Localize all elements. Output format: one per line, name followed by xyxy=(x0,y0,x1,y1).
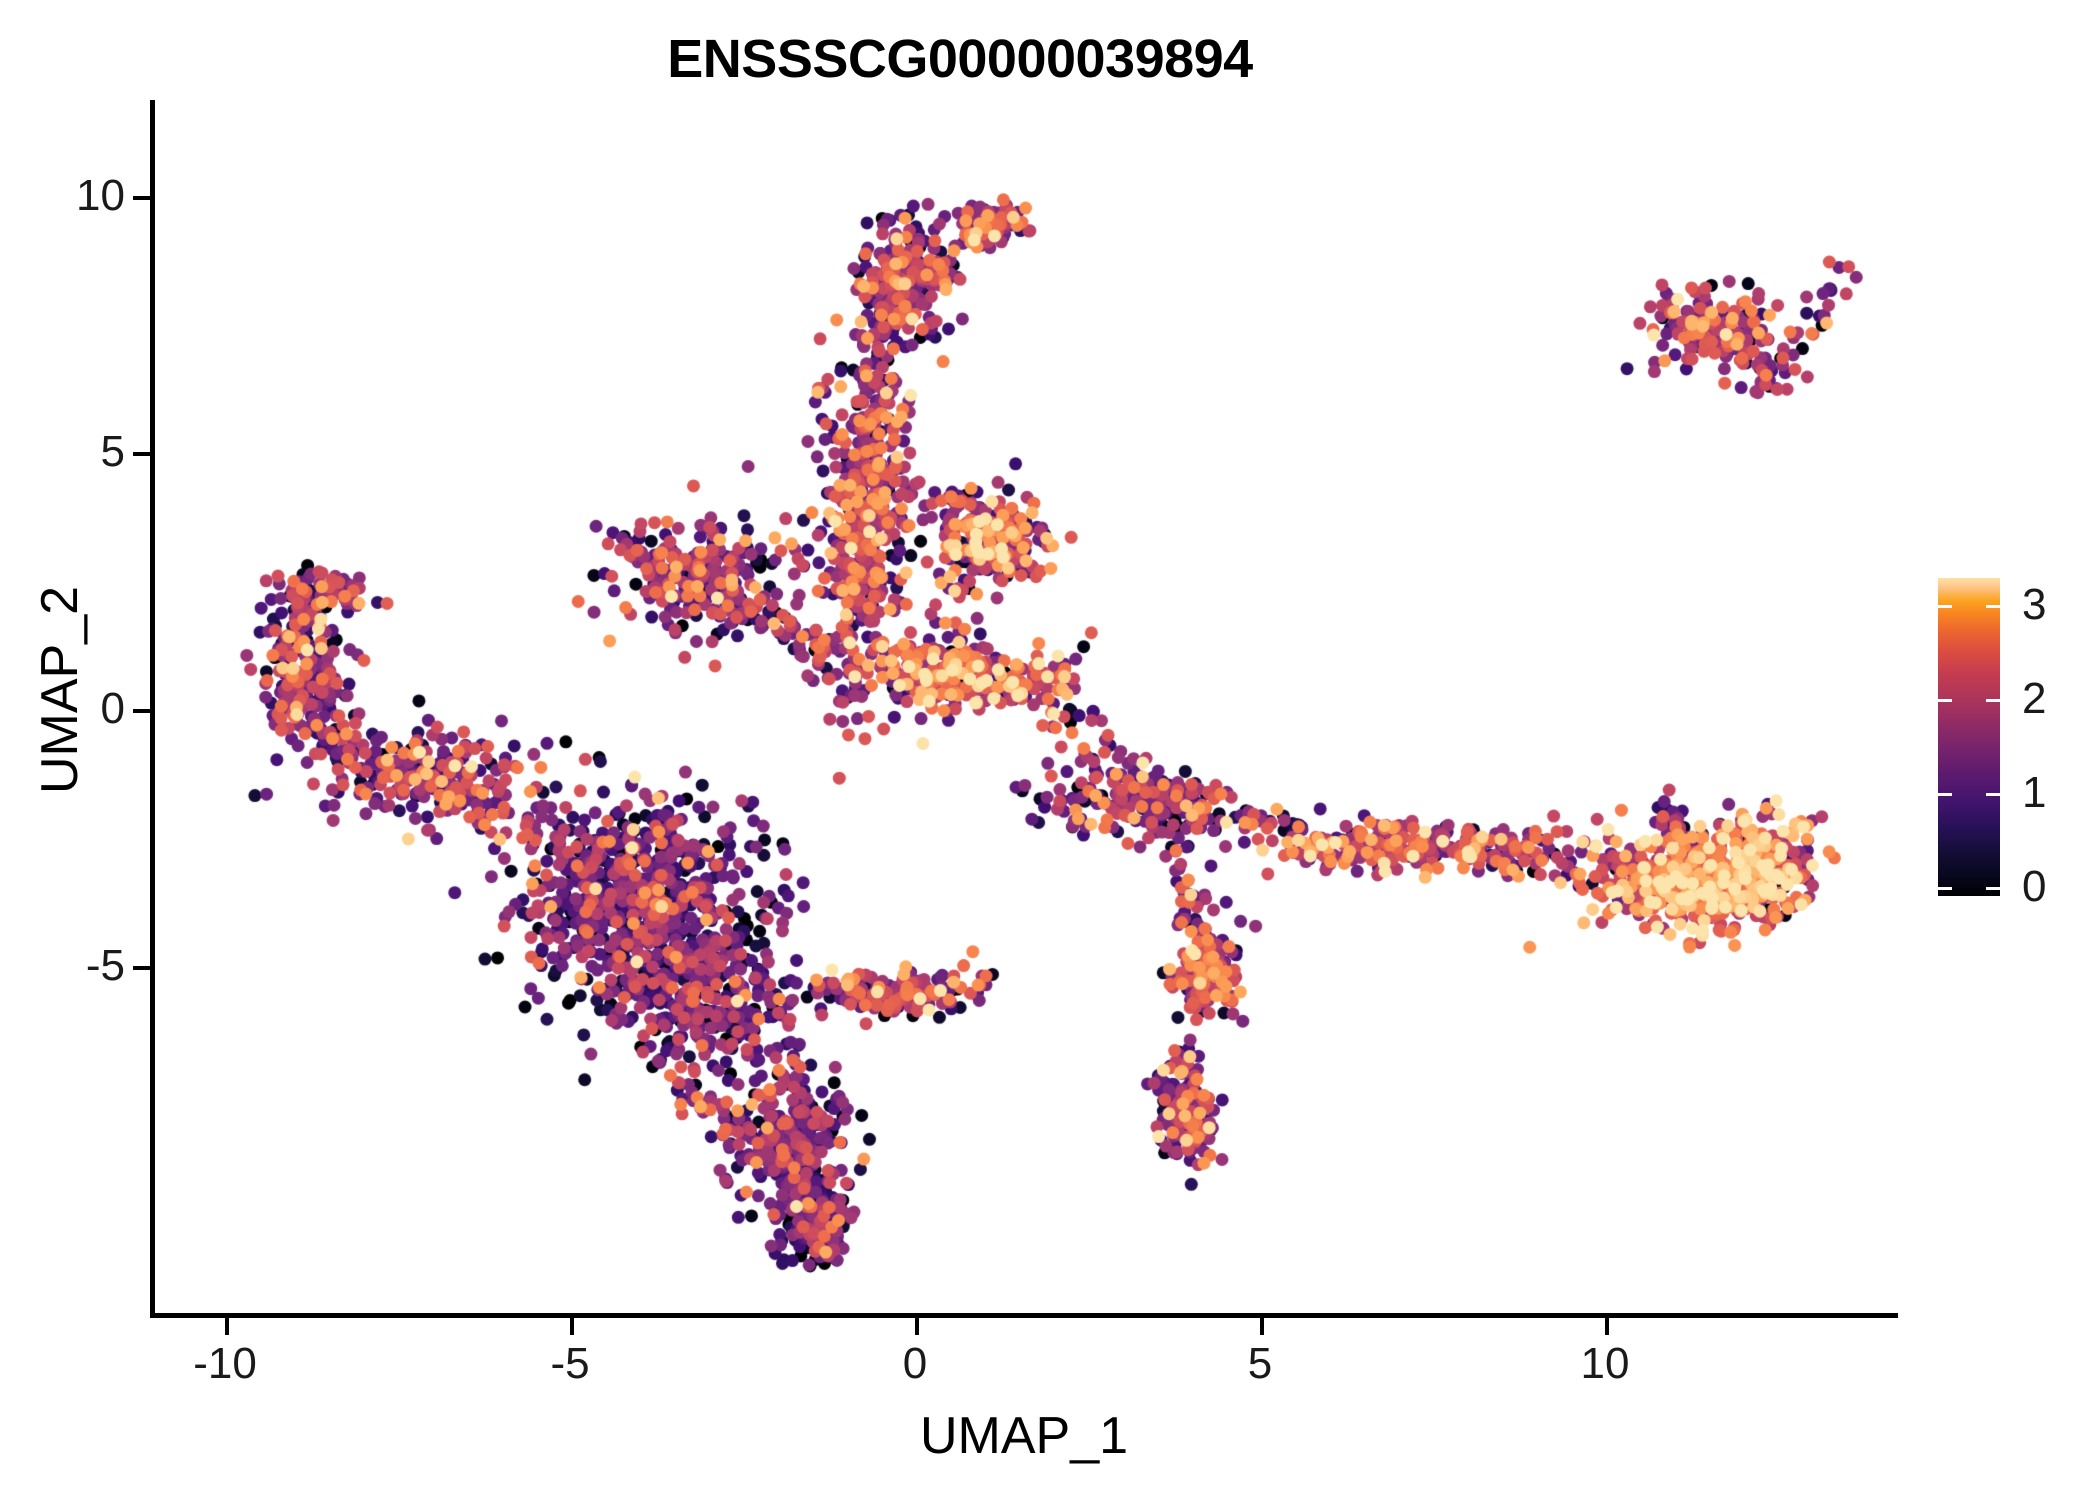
x-tick-mark xyxy=(570,1318,574,1335)
colorbar-tick xyxy=(1938,605,1952,608)
colorbar-tick-label: 0 xyxy=(2022,865,2100,909)
colorbar-tick xyxy=(1938,887,1952,890)
colorbar-tick xyxy=(1938,793,1952,796)
y-axis-title: UMAP_2 xyxy=(30,390,90,990)
colorbar-tick xyxy=(1938,699,1952,702)
x-tick-label: 10 xyxy=(1505,1342,1705,1386)
plot-panel xyxy=(152,100,1897,1315)
y-tick-mark xyxy=(133,966,150,970)
x-axis-line xyxy=(150,1313,1898,1318)
x-tick-mark xyxy=(225,1318,229,1335)
color-legend: 3 2 1 0 xyxy=(1938,578,2088,900)
y-tick-mark xyxy=(133,452,150,456)
colorbar-tick xyxy=(1986,605,2000,608)
x-axis-title: UMAP_1 xyxy=(150,1406,1898,1466)
x-tick-mark xyxy=(1260,1318,1264,1335)
y-tick-mark xyxy=(133,196,150,200)
colorbar-tick-label: 3 xyxy=(2022,583,2100,627)
scatter-points-layer xyxy=(152,100,1897,1315)
colorbar-tick xyxy=(1986,699,2000,702)
x-tick-label: -5 xyxy=(470,1342,670,1386)
x-tick-label: -10 xyxy=(125,1342,325,1386)
colorbar-tick-label: 1 xyxy=(2022,771,2100,815)
x-tick-mark xyxy=(1605,1318,1609,1335)
colorbar-tick xyxy=(1986,887,2000,890)
colorbar-tick-label: 2 xyxy=(2022,677,2100,721)
page-title: ENSSSCG00000039894 xyxy=(0,28,1920,90)
colorbar-gradient xyxy=(1938,578,2000,896)
x-tick-label: 5 xyxy=(1160,1342,1360,1386)
feature-plot-figure: ENSSSCG00000039894 10 5 0 -5 -10 -5 0 5 … xyxy=(0,0,2100,1500)
x-tick-mark xyxy=(915,1318,919,1335)
y-tick-mark xyxy=(133,709,150,713)
colorbar-tick xyxy=(1986,793,2000,796)
x-tick-label: 0 xyxy=(815,1342,1015,1386)
y-axis-line xyxy=(150,100,155,1318)
y-tick-label: 10 xyxy=(0,174,125,218)
